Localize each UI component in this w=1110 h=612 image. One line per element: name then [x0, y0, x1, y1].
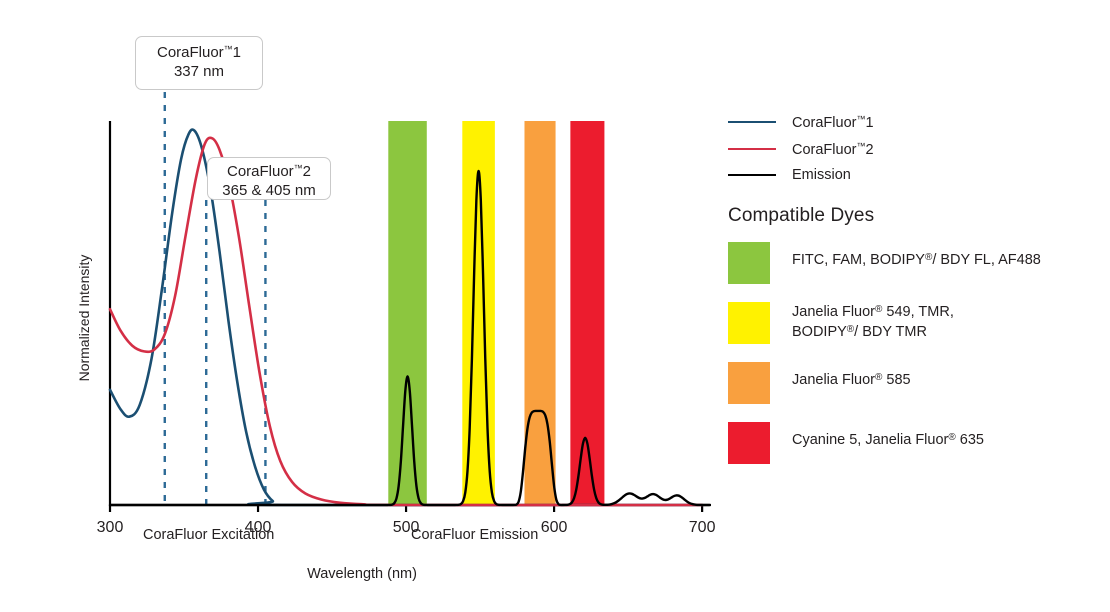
dye-item-green: FITC, FAM, BODIPY®/ BDY FL, AF488: [728, 242, 1041, 284]
dye-swatch-green: [728, 242, 770, 284]
x-tick-label: 600: [541, 519, 568, 536]
legend-item-emission: Emission: [728, 166, 851, 184]
dye-item-red: Cyanine 5, Janelia Fluor® 635: [728, 422, 984, 464]
dye-swatch-red: [728, 422, 770, 464]
callout-cf1-line2: 337 nm: [146, 63, 252, 82]
legend-panel: CoraFluor™1 CoraFluor™2 Emission Compati…: [728, 108, 1098, 184]
legend-item-corafluor2: CoraFluor™2: [728, 140, 874, 158]
callout-cf2-line1: CoraFluor™2: [216, 163, 322, 182]
region-label-emission: CoraFluor Emission: [411, 527, 538, 543]
legend-label-corafluor1: CoraFluor™1: [792, 114, 874, 131]
legend-swatch-corafluor1: [728, 121, 776, 124]
dye-label-yellow: Janelia Fluor® 549, TMR,BODIPY®/ BDY TMR: [792, 302, 954, 342]
y-axis-label: Normalized Intensity: [76, 228, 92, 408]
compatible-dyes-title: Compatible Dyes: [728, 205, 874, 227]
dye-label-green: FITC, FAM, BODIPY®/ BDY FL, AF488: [792, 242, 1041, 271]
green-band: [388, 121, 426, 505]
dye-label-orange: Janelia Fluor® 585: [792, 362, 911, 391]
dye-item-orange: Janelia Fluor® 585: [728, 362, 911, 404]
region-label-excitation: CoraFluor Excitation: [143, 527, 274, 543]
dye-label-red: Cyanine 5, Janelia Fluor® 635: [792, 422, 984, 451]
dye-item-yellow: Janelia Fluor® 549, TMR,BODIPY®/ BDY TMR: [728, 302, 954, 344]
x-tick-label: 300: [97, 519, 124, 536]
callout-corafluor1: CoraFluor™1 337 nm: [135, 36, 263, 90]
legend-label-corafluor2: CoraFluor™2: [792, 141, 874, 158]
dye-swatch-orange: [728, 362, 770, 404]
series-legend: CoraFluor™1 CoraFluor™2 Emission: [728, 108, 1098, 184]
dye-swatch-yellow: [728, 302, 770, 344]
legend-label-emission: Emission: [792, 167, 851, 183]
x-tick-label: 700: [689, 519, 716, 536]
legend-swatch-corafluor2: [728, 148, 776, 151]
callout-corafluor2: CoraFluor™2 365 & 405 nm: [207, 157, 331, 200]
legend-item-corafluor1: CoraFluor™1: [728, 113, 874, 131]
legend-swatch-emission: [728, 174, 776, 177]
fluorescence-spectra-figure: 300400500600700 CoraFluor™1 337 nm CoraF…: [0, 0, 1110, 612]
x-axis-label: Wavelength (nm): [0, 566, 724, 582]
callout-cf2-line2: 365 & 405 nm: [216, 182, 322, 201]
callout-cf1-line1: CoraFluor™1: [146, 44, 252, 63]
